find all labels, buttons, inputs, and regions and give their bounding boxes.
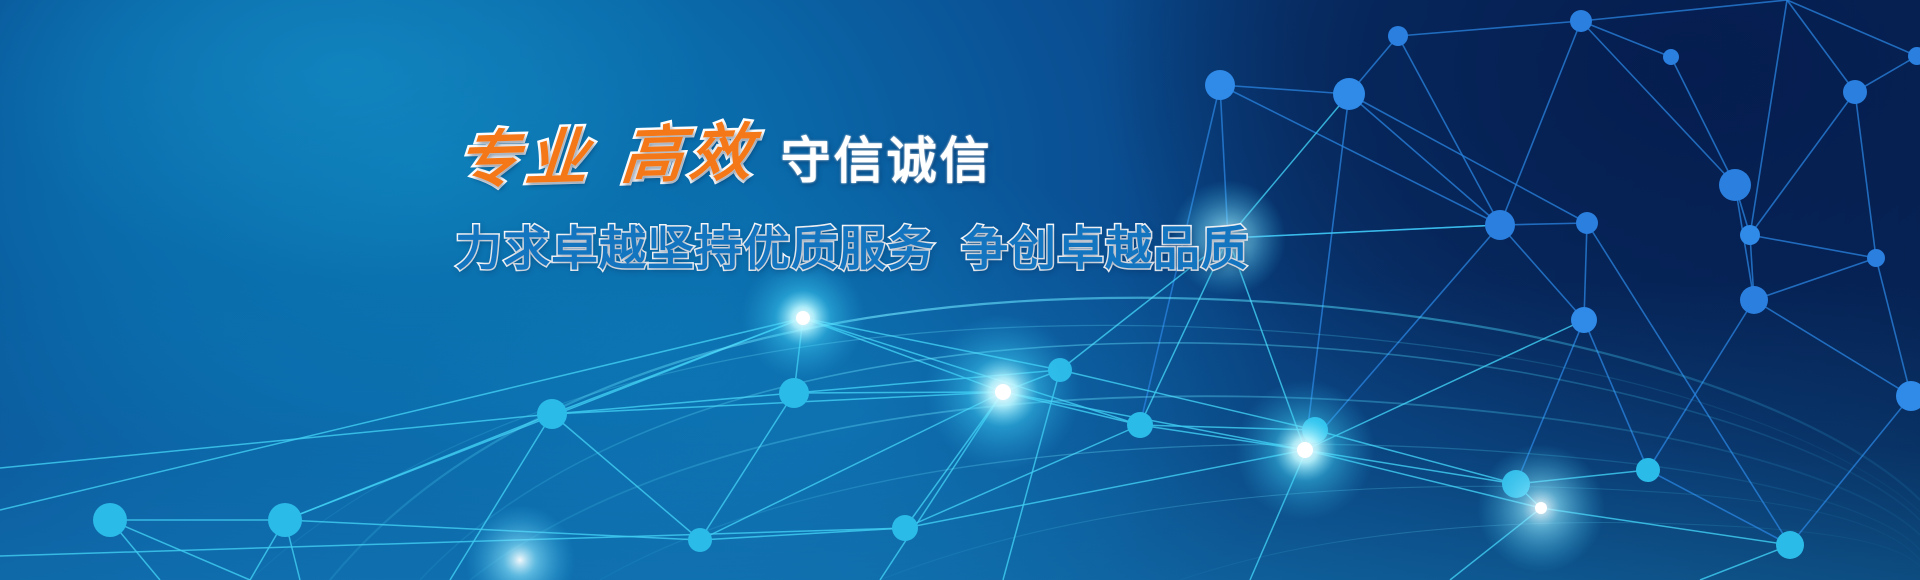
nodes-glow xyxy=(465,180,1605,580)
network-mesh-graphic xyxy=(0,0,1920,580)
promo-banner: 专业 高效 守信诚信 力求卓越坚持优质服务争创卓越品质 xyxy=(0,0,1920,580)
